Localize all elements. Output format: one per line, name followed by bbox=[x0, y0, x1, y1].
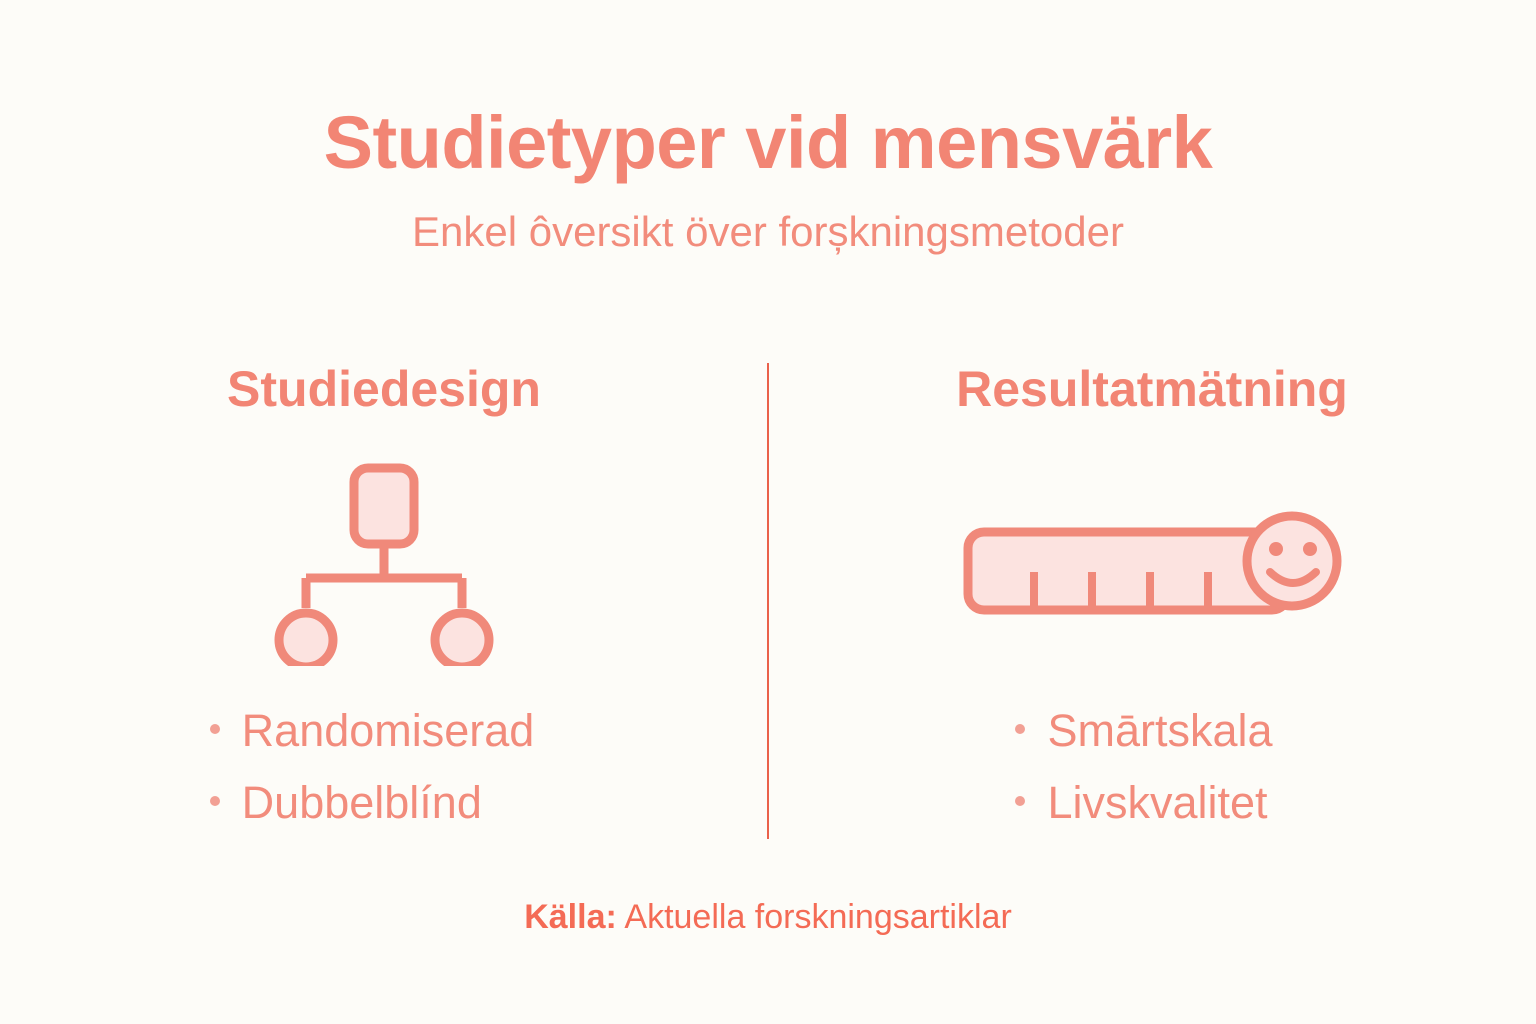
columns-container: Studiedesign bbox=[0, 362, 1536, 839]
bullet-dot-icon bbox=[210, 724, 220, 734]
list-item-label: Randomiserad bbox=[242, 695, 535, 767]
smiley-eye-left-icon bbox=[1269, 542, 1283, 556]
bullet-dot-icon bbox=[1015, 724, 1025, 734]
source-footer: Källa: Aktuella forskningsartiklar bbox=[0, 898, 1536, 937]
page-title: Studietyper vid mensvärk bbox=[0, 104, 1536, 182]
source-value: Aktuella forskningsartiklar bbox=[624, 898, 1011, 936]
smiley-face-circle bbox=[1247, 516, 1337, 606]
smiley-eye-right-icon bbox=[1303, 542, 1317, 556]
page-subtitle: Enkel ôversikt över forșkningsmetoder bbox=[0, 208, 1536, 256]
list-item-label: Smārtskala bbox=[1047, 695, 1272, 767]
header: Studietyper vid mensvärk Enkel ôversikt … bbox=[0, 104, 1536, 256]
list-item-label: Dubbelblínd bbox=[242, 767, 482, 839]
list-item: Dubbelblínd bbox=[210, 767, 535, 839]
ruler-smiley-scale-icon-svg bbox=[962, 506, 1342, 616]
source-label: Källa: bbox=[524, 898, 617, 936]
column-heading-resultatmatning: Resultatmätning bbox=[956, 362, 1348, 417]
tree-child-node-left bbox=[279, 613, 333, 666]
column-studiedesign: Studiedesign bbox=[0, 362, 768, 839]
list-item: Livskvalitet bbox=[1015, 767, 1272, 839]
bullet-dot-icon bbox=[1015, 796, 1025, 806]
tree-parent-node bbox=[354, 468, 414, 544]
bullet-dot-icon bbox=[210, 796, 220, 806]
list-item-label: Livskvalitet bbox=[1047, 767, 1267, 839]
hierarchy-tree-icon-svg bbox=[254, 456, 514, 666]
bullet-list-resultatmatning: Smārtskala Livskvalitet bbox=[1015, 695, 1272, 839]
tree-child-node-right bbox=[435, 613, 489, 666]
infographic-canvas: Studietyper vid mensvärk Enkel ôversikt … bbox=[0, 0, 1536, 1024]
ruler-smiley-scale-icon bbox=[962, 461, 1342, 661]
list-item: Smārtskala bbox=[1015, 695, 1272, 767]
column-resultatmatning: Resultatmätning bbox=[768, 362, 1536, 839]
hierarchy-tree-icon bbox=[254, 461, 514, 661]
ruler-bar bbox=[968, 532, 1288, 610]
list-item: Randomiserad bbox=[210, 695, 535, 767]
column-heading-studiedesign: Studiedesign bbox=[227, 362, 541, 417]
bullet-list-studiedesign: Randomiserad Dubbelblínd bbox=[210, 695, 535, 839]
